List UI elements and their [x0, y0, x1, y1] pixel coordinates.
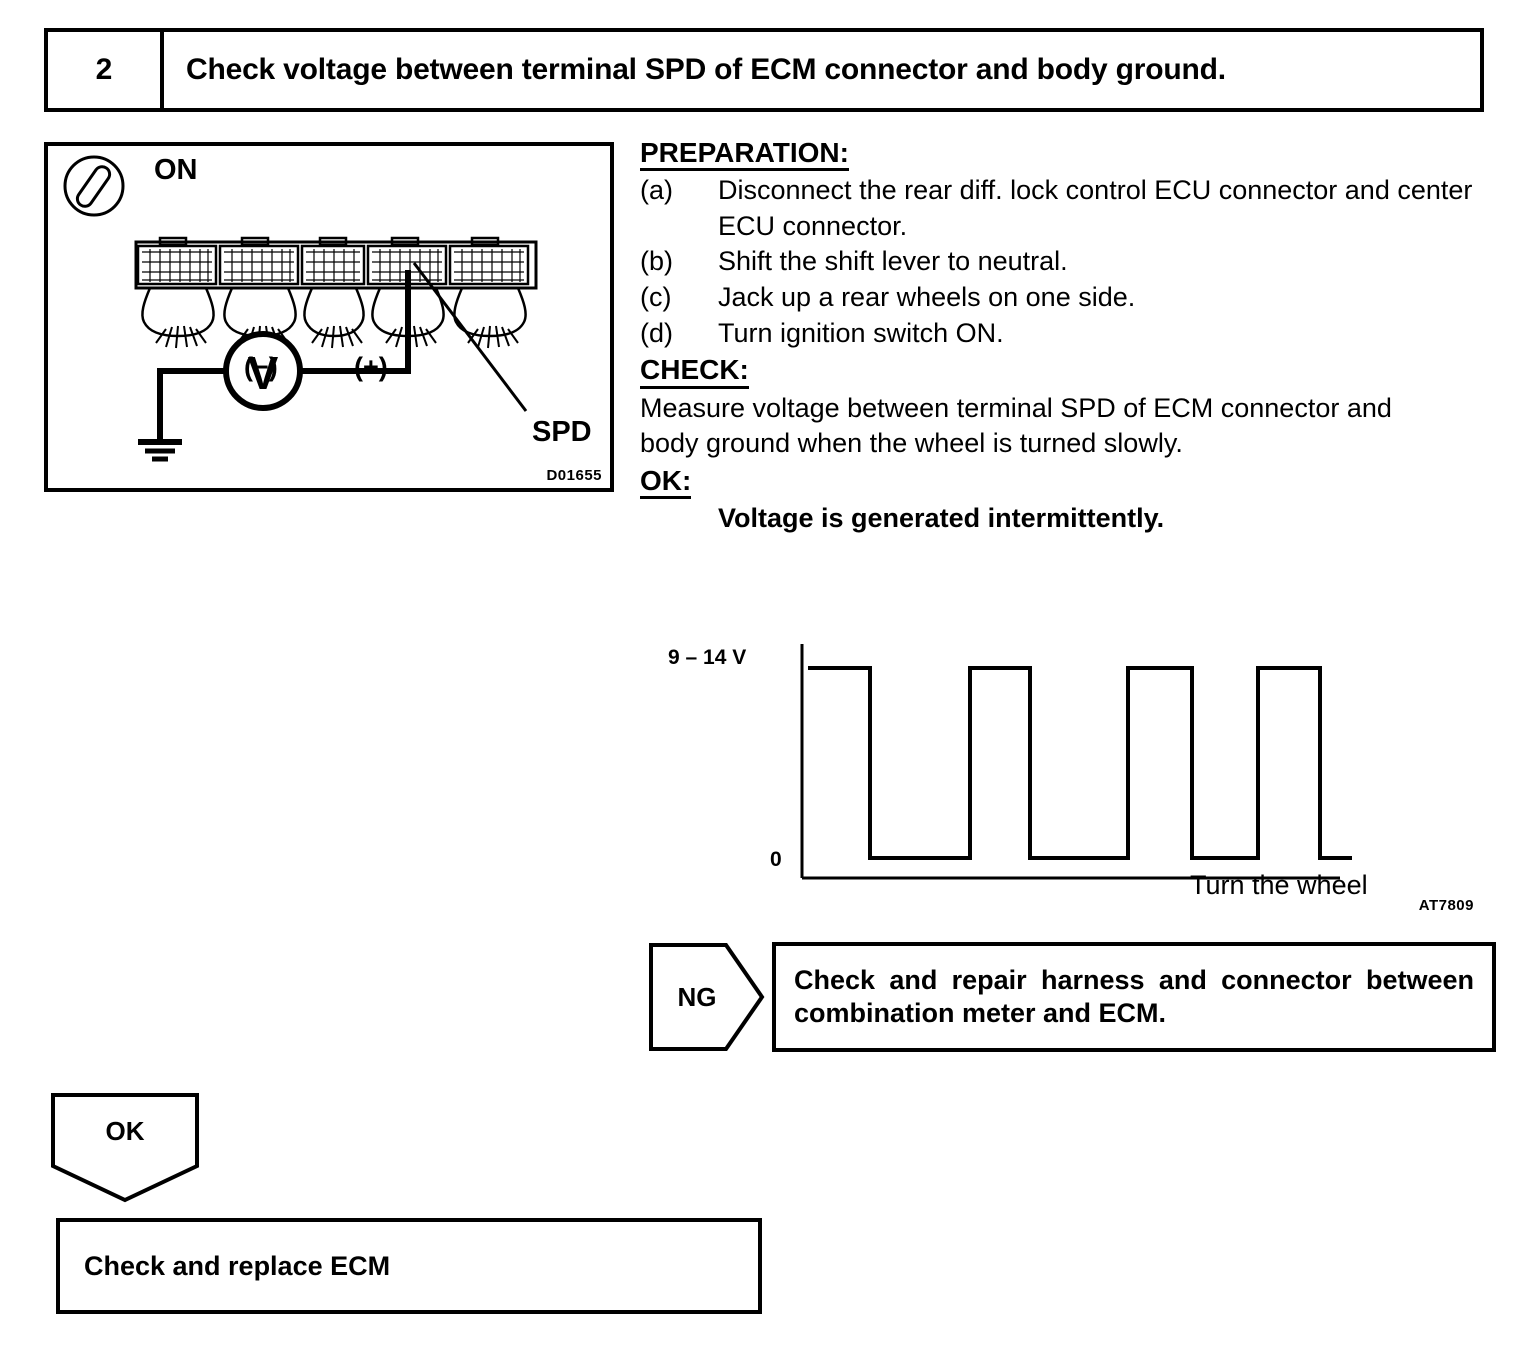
preparation-marker: (d) — [640, 316, 718, 352]
ok-action-text: Check and replace ECM — [84, 1251, 390, 1282]
ignition-switch-icon — [65, 157, 123, 215]
ecm-connector-1 — [138, 238, 216, 348]
ok-heading: OK: — [640, 466, 691, 499]
ecm-connector-strip — [136, 238, 536, 348]
negative-lead-label: (−) — [244, 352, 278, 383]
ecm-connector-3 — [302, 238, 364, 348]
ok-branch: OK — [50, 1092, 200, 1202]
preparation-item: (c) Jack up a rear wheels on one side. — [640, 280, 1496, 316]
preparation-item: (b) Shift the shift lever to neutral. — [640, 244, 1496, 280]
ok-action-box: Check and replace ECM — [56, 1218, 762, 1314]
negative-test-lead — [160, 371, 226, 442]
check-line-1: Measure voltage between terminal SPD of … — [640, 391, 1496, 427]
preparation-item: (d) Turn ignition switch ON. — [640, 316, 1496, 352]
preparation-marker: (b) — [640, 244, 718, 280]
ng-action-box: Check and repair harness and connector b… — [772, 942, 1496, 1052]
ground-symbol — [138, 442, 182, 459]
step-header: 2 Check voltage between terminal SPD of … — [44, 28, 1484, 112]
preparation-text: Shift the shift lever to neutral. — [718, 244, 1496, 280]
preparation-item: (a) Disconnect the rear diff. lock contr… — [640, 173, 1496, 244]
waveform-trace — [808, 668, 1352, 858]
step-number: 2 — [48, 32, 164, 108]
figure-box: ON — [44, 142, 614, 492]
preparation-text: Disconnect the rear diff. lock control E… — [718, 173, 1496, 244]
ecm-connector-diagram: V — [48, 146, 610, 488]
instruction-panel: PREPARATION: (a) Disconnect the rear dif… — [640, 138, 1496, 537]
preparation-list: (a) Disconnect the rear diff. lock contr… — [640, 173, 1496, 351]
ok-label: OK — [50, 1092, 200, 1170]
spd-terminal-label: SPD — [532, 416, 592, 449]
step-title: Check voltage between terminal SPD of EC… — [164, 32, 1480, 108]
waveform-plot — [780, 630, 1500, 890]
chart-y-tick-high: 9 – 14 V — [668, 646, 746, 670]
check-line-2: body ground when the wheel is turned slo… — [640, 426, 1496, 462]
preparation-marker: (a) — [640, 173, 718, 244]
preparation-marker: (c) — [640, 280, 718, 316]
ng-label: NG — [648, 942, 746, 1052]
chart-figure-code: AT7809 — [1419, 897, 1474, 914]
ecm-connector-5 — [450, 238, 528, 348]
preparation-heading: PREPARATION: — [640, 138, 849, 171]
figure-code: D01655 — [546, 467, 602, 484]
check-heading: CHECK: — [640, 355, 749, 388]
ng-action-text: Check and repair harness and connector b… — [794, 964, 1474, 1030]
voltage-waveform-chart: 9 – 14 V 0 Turn the wheel AT7809 — [660, 620, 1500, 920]
preparation-text: Jack up a rear wheels on one side. — [718, 280, 1496, 316]
ng-branch: NG Check and repair harness and connecto… — [648, 942, 1496, 1052]
preparation-text: Turn ignition switch ON. — [718, 316, 1496, 352]
chart-x-axis-label: Turn the wheel — [1190, 870, 1368, 901]
ok-criteria: Voltage is generated intermittently. — [640, 501, 1496, 537]
positive-lead-label: (+) — [354, 352, 388, 383]
